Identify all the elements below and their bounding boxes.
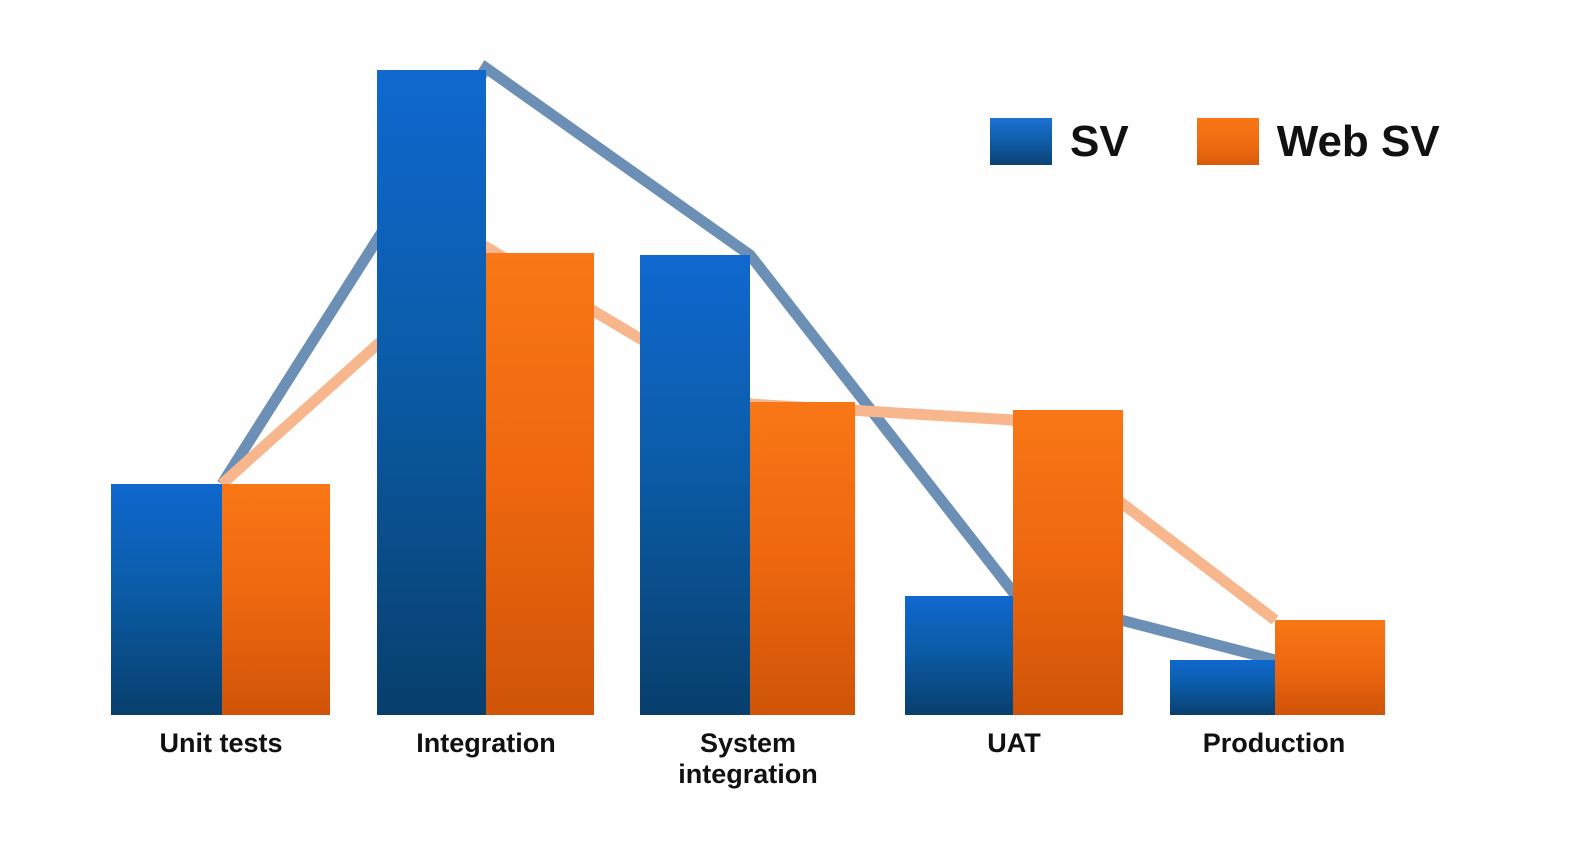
category-label-3: UAT	[864, 728, 1164, 759]
legend-label-websv: Web SV	[1277, 120, 1440, 164]
category-label-0-line-0: Unit tests	[71, 728, 371, 759]
legend-item-sv: SV	[990, 118, 1129, 165]
chart-container: SV Web SV Unit testsIntegrationSystemint…	[0, 0, 1580, 868]
category-label-4: Production	[1124, 728, 1424, 759]
chart-legend: SV Web SV	[990, 118, 1440, 165]
bar-sv-3	[905, 596, 1013, 715]
bar-websv-0	[222, 484, 330, 715]
bar-sv-2	[640, 255, 750, 715]
category-label-0: Unit tests	[71, 728, 371, 759]
bar-sv-0	[111, 484, 222, 715]
category-label-2-line-1: integration	[598, 759, 898, 790]
category-label-3-line-0: UAT	[864, 728, 1164, 759]
category-label-4-line-0: Production	[1124, 728, 1424, 759]
bar-websv-1	[486, 253, 594, 715]
category-label-2-line-0: System	[598, 728, 898, 759]
category-label-1-line-0: Integration	[336, 728, 636, 759]
legend-label-sv: SV	[1070, 120, 1129, 164]
bar-websv-3	[1013, 410, 1123, 715]
bar-websv-2	[750, 402, 855, 715]
bar-sv-1	[377, 70, 486, 715]
category-label-2: Systemintegration	[598, 728, 898, 791]
bar-sv-4	[1170, 660, 1275, 715]
legend-item-websv: Web SV	[1197, 118, 1440, 165]
legend-swatch-websv-icon	[1197, 118, 1259, 165]
category-label-1: Integration	[336, 728, 636, 759]
legend-swatch-sv-icon	[990, 118, 1052, 165]
bar-websv-4	[1275, 620, 1385, 715]
